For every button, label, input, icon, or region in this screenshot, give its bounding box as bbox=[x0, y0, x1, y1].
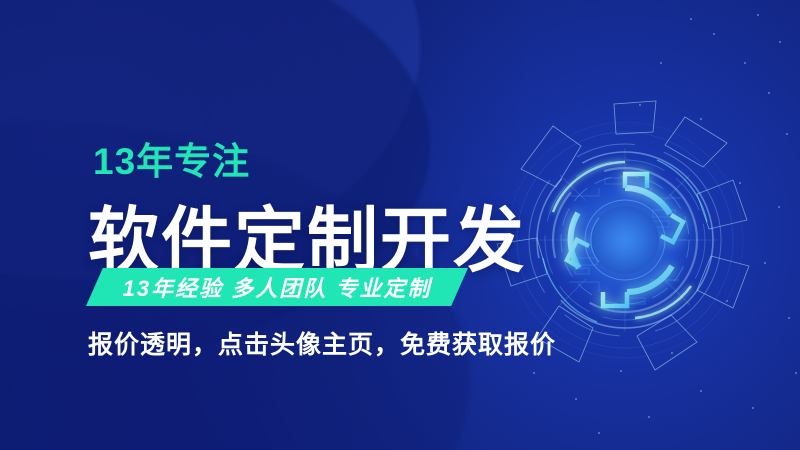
eyebrow-text: 13年专注 bbox=[93, 131, 250, 185]
ribbon-text: 13年经验 多人团队 专业定制 bbox=[86, 268, 468, 306]
promo-banner: 13年专注 软件定制开发 13年经验 多人团队 专业定制 报价透明，点击头像主页… bbox=[0, 0, 800, 450]
feature-ribbon: 13年经验 多人团队 专业定制 bbox=[86, 268, 468, 306]
tagline-text: 报价透明，点击头像主页，免费获取报价 bbox=[88, 325, 556, 361]
core-glow bbox=[550, 165, 700, 315]
